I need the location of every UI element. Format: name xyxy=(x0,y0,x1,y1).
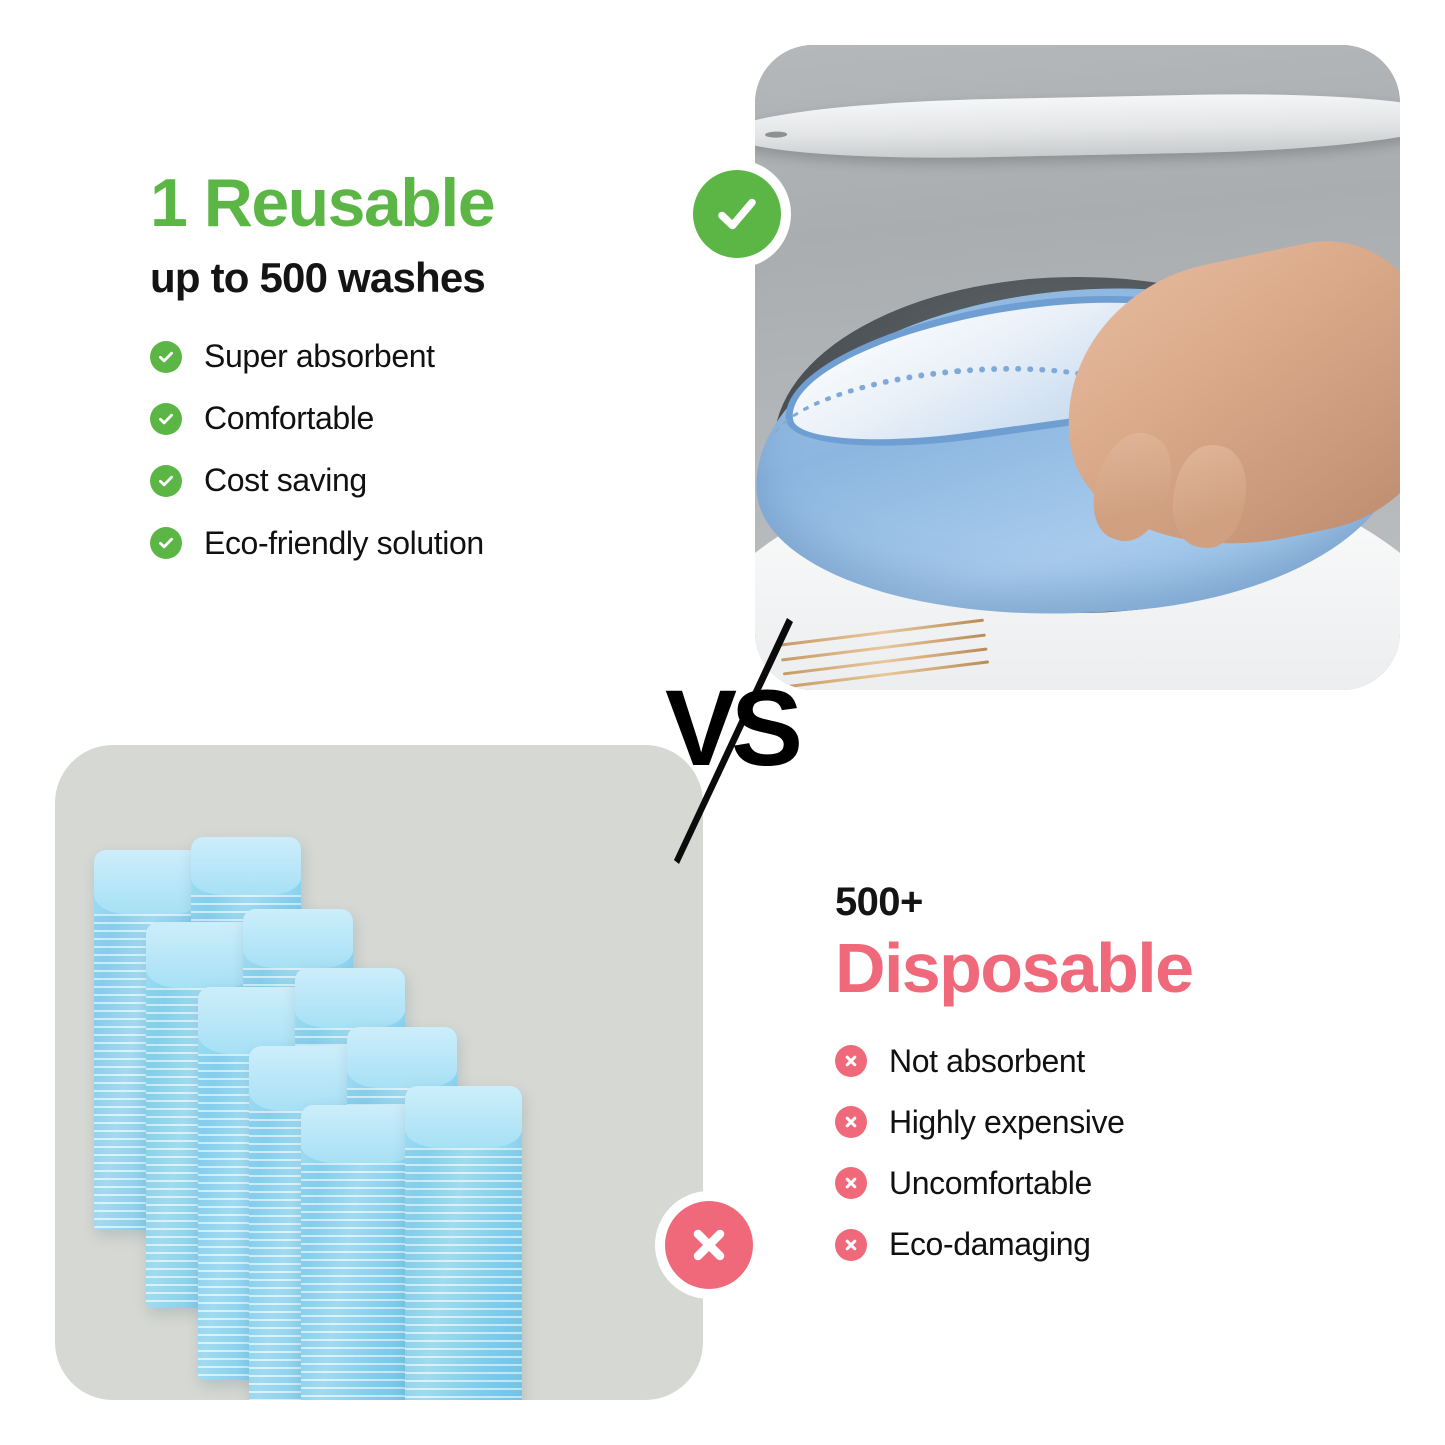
pad-stack xyxy=(301,1105,418,1400)
cross-circle-icon xyxy=(835,1229,867,1261)
list-item-label: Not absorbent xyxy=(889,1044,1085,1079)
list-item-label: Eco-damaging xyxy=(889,1227,1091,1262)
reusable-headline: 1 Reusable xyxy=(150,168,710,239)
list-item-label: Cost saving xyxy=(204,463,367,498)
check-circle-icon xyxy=(150,403,182,435)
disposable-section: 500+ Disposable Not absorbent Highly exp… xyxy=(835,880,1395,1288)
versus-badge: VS xyxy=(655,596,845,886)
list-item-label: Super absorbent xyxy=(204,339,435,374)
check-circle-icon xyxy=(150,527,182,559)
list-item: Uncomfortable xyxy=(835,1166,1395,1201)
check-circle-icon xyxy=(150,341,182,373)
check-circle-icon xyxy=(693,170,781,258)
reusable-section: 1 Reusable up to 500 washes Super absorb… xyxy=(150,168,710,588)
disposable-drawbacks-list: Not absorbent Highly expensive Uncomfort… xyxy=(835,1044,1395,1263)
cross-circle-icon xyxy=(835,1045,867,1077)
infographic-canvas: 1 Reusable up to 500 washes Super absorb… xyxy=(0,0,1445,1445)
disposable-rejected-badge xyxy=(655,1191,763,1299)
reusable-subheadline: up to 500 washes xyxy=(150,253,710,303)
list-item-label: Highly expensive xyxy=(889,1105,1125,1140)
list-item: Cost saving xyxy=(150,463,710,498)
pad-stack xyxy=(405,1086,522,1400)
washing-machine-scene xyxy=(755,45,1400,690)
reusable-benefits-list: Super absorbent Comfortable Cost saving xyxy=(150,339,710,561)
list-item-label: Uncomfortable xyxy=(889,1166,1092,1201)
disposable-headline: Disposable xyxy=(835,932,1395,1006)
disposable-photo xyxy=(55,745,703,1400)
reusable-approved-badge xyxy=(683,160,791,268)
list-item: Not absorbent xyxy=(835,1044,1395,1079)
list-item: Eco-damaging xyxy=(835,1227,1395,1262)
cross-circle-icon xyxy=(665,1201,753,1289)
list-item: Eco-friendly solution xyxy=(150,526,710,561)
disposable-quantity: 500+ xyxy=(835,880,1395,924)
check-circle-icon xyxy=(150,465,182,497)
list-item: Comfortable xyxy=(150,401,710,436)
cross-circle-icon xyxy=(835,1167,867,1199)
list-item-label: Comfortable xyxy=(204,401,374,436)
reusable-photo xyxy=(755,45,1400,690)
list-item-label: Eco-friendly solution xyxy=(204,526,484,561)
versus-label: VS xyxy=(665,674,797,782)
list-item: Highly expensive xyxy=(835,1105,1395,1140)
cross-circle-icon xyxy=(835,1106,867,1138)
list-item: Super absorbent xyxy=(150,339,710,374)
